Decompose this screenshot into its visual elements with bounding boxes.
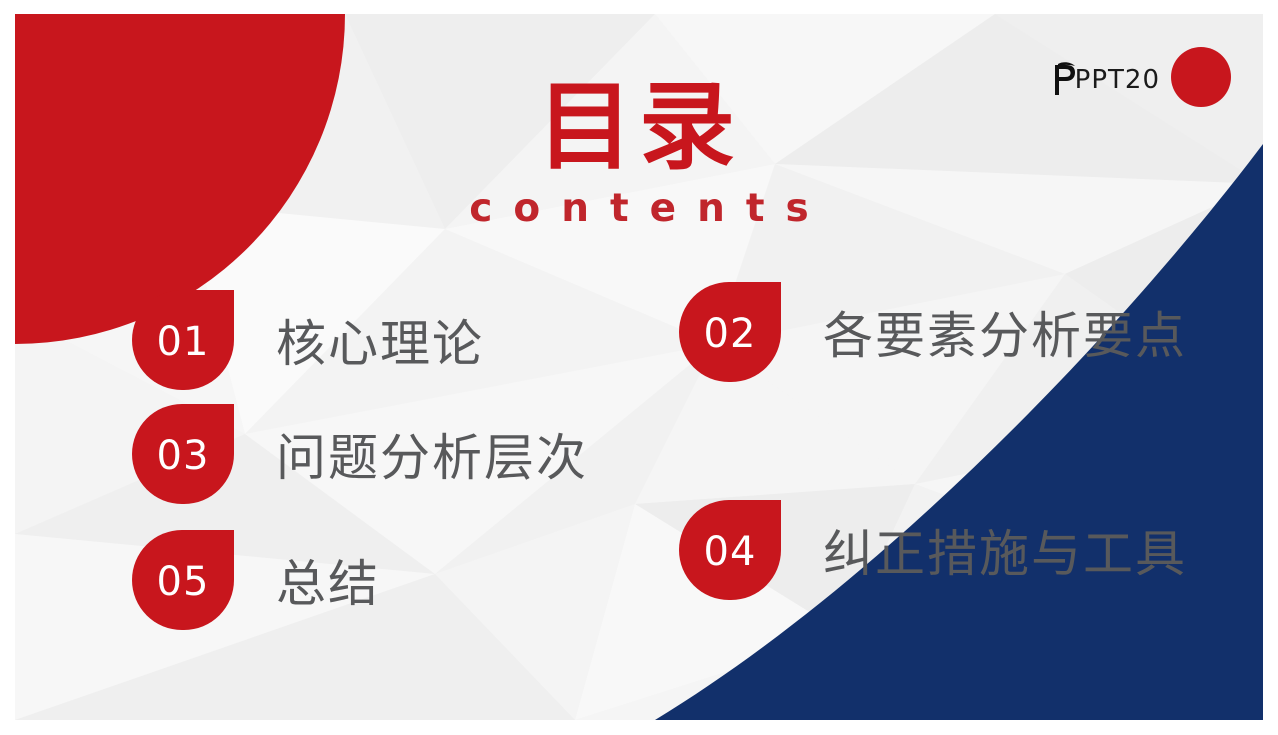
menu-item-02[interactable]: 02 各要素分析要点 <box>679 282 1187 382</box>
menu-badge-04: 04 <box>679 500 781 600</box>
menu-badge-03: 03 <box>132 404 234 504</box>
menu-number-03: 03 <box>157 436 210 476</box>
contents-menu: 01 核心理论 02 各要素分析要点 03 问题分析层次 04 <box>15 14 1263 720</box>
menu-item-03[interactable]: 03 问题分析层次 <box>132 404 588 504</box>
slide-root: PPT20 目录 contents 01 核心理论 02 各要素分析要点 <box>0 0 1278 735</box>
menu-number-05: 05 <box>157 562 210 602</box>
menu-number-01: 01 <box>157 322 210 362</box>
menu-label-01: 核心理论 <box>276 304 484 376</box>
menu-label-02: 各要素分析要点 <box>823 296 1187 368</box>
menu-badge-02: 02 <box>679 282 781 382</box>
menu-number-04: 04 <box>704 532 757 572</box>
menu-badge-01: 01 <box>132 290 234 390</box>
slide-canvas: PPT20 目录 contents 01 核心理论 02 各要素分析要点 <box>15 14 1263 720</box>
menu-label-05: 总结 <box>276 544 380 616</box>
menu-badge-05: 05 <box>132 530 234 630</box>
menu-label-03: 问题分析层次 <box>276 418 588 490</box>
menu-label-04: 纠正措施与工具 <box>823 514 1187 586</box>
menu-number-02: 02 <box>704 314 757 354</box>
menu-item-01[interactable]: 01 核心理论 <box>132 290 484 390</box>
menu-item-05[interactable]: 05 总结 <box>132 530 380 630</box>
menu-item-04[interactable]: 04 纠正措施与工具 <box>679 500 1187 600</box>
